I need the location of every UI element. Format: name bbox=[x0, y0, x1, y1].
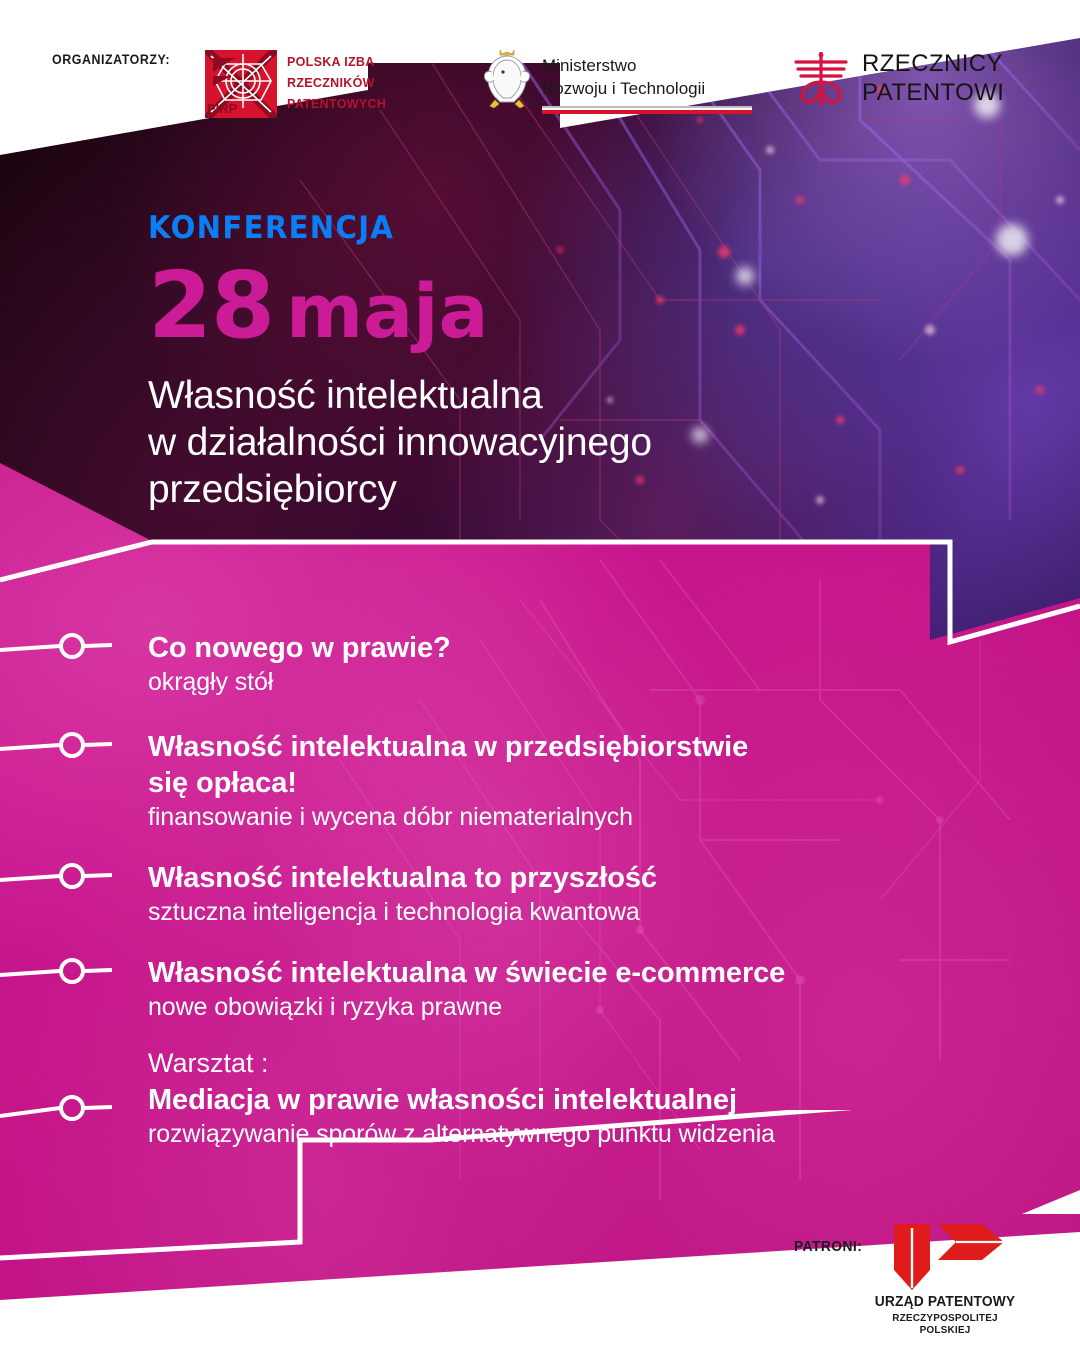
agenda-item[interactable]: Własność intelektualna to przyszłość szt… bbox=[0, 860, 1080, 929]
ministry-flag-rule bbox=[542, 106, 752, 114]
patrons-footer: PATRONI: URZĄD PATENTOWY RZECZYPOSPOLITE… bbox=[0, 1200, 1080, 1350]
patrons-label: PATRONI: bbox=[794, 1238, 862, 1255]
pirp-logo-text: POLSKA IZBA RZECZNIKÓW PATENTOWYCH bbox=[287, 52, 386, 115]
agenda-item-title: Własność intelektualna w przedsiębiorstw… bbox=[148, 729, 1080, 765]
event-date-day: 28 bbox=[148, 252, 274, 359]
ministry-logo: Ministerstwo Rozwoju i Technologii bbox=[480, 46, 710, 118]
rzecznicy-mark-icon bbox=[790, 48, 852, 110]
ministry-line-1: Ministerstwo bbox=[542, 54, 705, 77]
agenda-item-subtitle: sztuczna inteligencja i technologia kwan… bbox=[148, 896, 1080, 929]
agenda-item-prefix: Warsztat : bbox=[148, 1046, 1080, 1080]
pirp-line-1: POLSKA IZBA bbox=[287, 52, 386, 73]
hero-title-line-3: przedsiębiorcy bbox=[148, 466, 652, 513]
agenda-item[interactable]: Co nowego w prawie? okrągły stół bbox=[0, 630, 1080, 699]
circuit-node-bullet-icon bbox=[0, 630, 140, 664]
agenda-item-title: Własność intelektualna to przyszłość bbox=[148, 860, 1080, 896]
organizers-label: ORGANIZATORZY: bbox=[52, 52, 170, 67]
polish-eagle-icon bbox=[480, 46, 534, 112]
pirp-mark-text: PIRP bbox=[207, 101, 237, 116]
agenda-item[interactable]: Własność intelektualna w przedsiębiorstw… bbox=[0, 729, 1080, 834]
pirp-line-2: RZECZNIKÓW bbox=[287, 73, 386, 94]
conference-kicker: KONFERENCJA bbox=[148, 210, 622, 246]
agenda-item-subtitle: finansowanie i wycena dóbr niematerialny… bbox=[148, 801, 1080, 834]
hero-title: Własność intelektualna w działalności in… bbox=[148, 372, 652, 513]
circuit-node-bullet-icon bbox=[0, 955, 140, 989]
agenda-list: Co nowego w prawie? okrągły stół Własnoś… bbox=[0, 630, 1080, 1177]
rzecznicy-logo-text: RZECZNICY PATENTOWI bbox=[862, 49, 1004, 107]
hero-title-line-2: w działalności innowacyjnego bbox=[148, 419, 652, 466]
hero-title-line-1: Własność intelektualna bbox=[148, 372, 652, 419]
agenda-item-title-2: się opłaca! bbox=[148, 765, 1080, 801]
ministry-line-2: Rozwoju i Technologii bbox=[542, 77, 705, 100]
pirp-logo-icon: PIRP bbox=[205, 50, 277, 118]
circuit-node-bullet-icon bbox=[0, 1092, 140, 1126]
agenda-item-subtitle: nowe obowiązki i ryzyka prawne bbox=[148, 991, 1080, 1024]
agenda-item-subtitle: rozwiązywanie sporów z alternatywnego pu… bbox=[148, 1118, 1080, 1151]
pirp-line-3: PATENTOWYCH bbox=[287, 94, 386, 115]
hero-text-block: KONFERENCJA 28maja Własność intelektualn… bbox=[148, 210, 652, 513]
agenda-item-workshop[interactable]: Warsztat : Mediacja w prawie własności i… bbox=[0, 1046, 1080, 1151]
agenda-item-title: Własność intelektualna w świecie e-comme… bbox=[148, 955, 1080, 991]
ministry-logo-text: Ministerstwo Rozwoju i Technologii bbox=[542, 54, 705, 100]
rzecznicy-line-1: RZECZNICY bbox=[862, 49, 1004, 78]
agenda-item-title: Mediacja w prawie własności intelektualn… bbox=[148, 1082, 1080, 1118]
event-date-month: maja bbox=[286, 269, 488, 355]
uprp-line-2: RZECZYPOSPOLITEJ POLSKIEJ bbox=[874, 1312, 1017, 1336]
uprp-logo: URZĄD PATENTOWY RZECZYPOSPOLITEJ POLSKIE… bbox=[870, 1218, 1020, 1328]
agenda-item-title: Co nowego w prawie? bbox=[148, 630, 1080, 666]
organizers-logo-bar: ORGANIZATORZY: PIRP POLSKA IZBA RZECZNIK… bbox=[0, 0, 1080, 150]
uprp-line-1: URZĄD PATENTOWY bbox=[874, 1294, 1017, 1310]
circuit-node-bullet-icon bbox=[0, 860, 140, 894]
conference-poster: ORGANIZATORZY: PIRP POLSKA IZBA RZECZNIK… bbox=[0, 0, 1080, 1350]
rzecznicy-patentowi-logo: RZECZNICY PATENTOWI bbox=[790, 46, 1020, 116]
event-date: 28maja bbox=[148, 262, 652, 350]
agenda-item[interactable]: Własność intelektualna w świecie e-comme… bbox=[0, 955, 1080, 1024]
agenda-item-subtitle: okrągły stół bbox=[148, 666, 1080, 699]
uprp-mark-icon bbox=[888, 1218, 1006, 1290]
rzecznicy-line-2: PATENTOWI bbox=[862, 78, 1004, 107]
circuit-node-bullet-icon bbox=[0, 729, 140, 763]
